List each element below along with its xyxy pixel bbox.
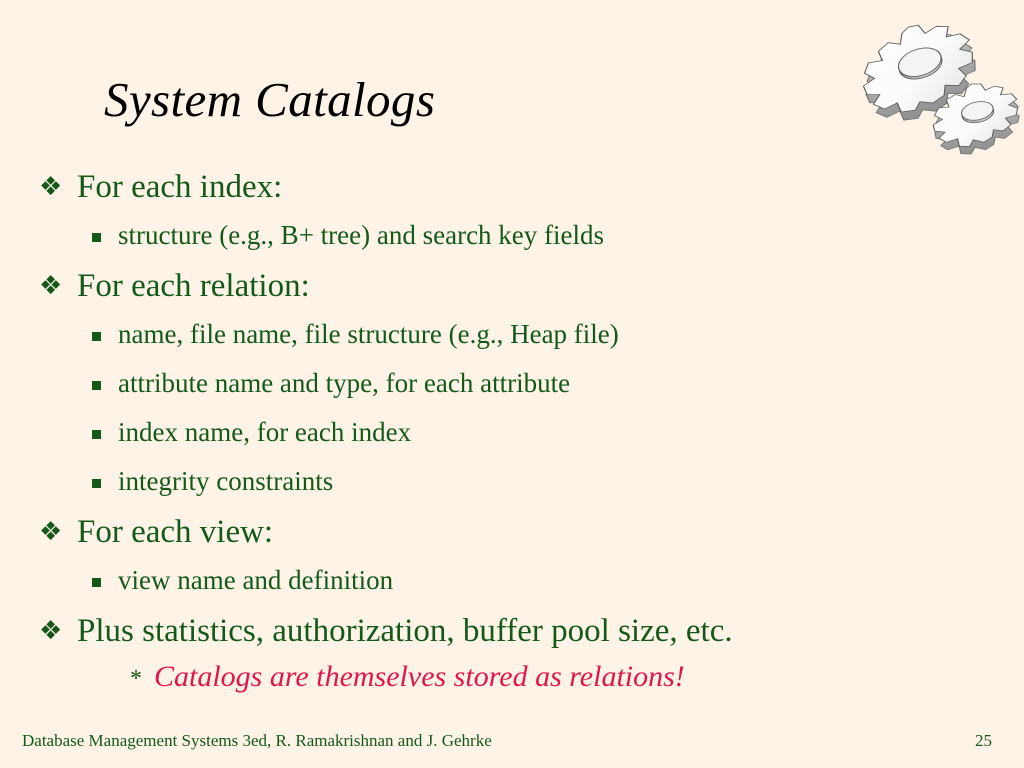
- highlight-note: * Catalogs are themselves stored as rela…: [0, 660, 1024, 704]
- bullet-text: For each view:: [77, 511, 273, 553]
- slide-canvas: System Catalogs: [0, 0, 1024, 768]
- bullet-text: For each relation:: [77, 265, 310, 307]
- square-bullet-icon: [92, 381, 101, 390]
- bullet-item-level1: ❖ For each view:: [0, 511, 1024, 561]
- square-bullet-icon: [92, 233, 101, 242]
- bullet-text: index name, for each index: [118, 413, 411, 451]
- diamond-bullet-icon: ❖: [39, 271, 65, 301]
- bullet-item-level2: structure (e.g., B+ tree) and search key…: [0, 216, 1024, 265]
- square-bullet-icon: [92, 332, 101, 341]
- bullet-item-level2: integrity constraints: [0, 462, 1024, 511]
- bullet-item-level2: index name, for each index: [0, 413, 1024, 462]
- bullet-list: ❖ For each index: structure (e.g., B+ tr…: [0, 166, 1024, 704]
- gears-icon: [845, 4, 1024, 156]
- bullet-item-level1: ❖ Plus statistics, authorization, buffer…: [0, 610, 1024, 660]
- bullet-item-level2: name, file name, file structure (e.g., H…: [0, 315, 1024, 364]
- bullet-text: view name and definition: [118, 561, 393, 599]
- square-bullet-icon: [92, 578, 101, 587]
- bullet-text: attribute name and type, for each attrib…: [118, 364, 570, 402]
- bullet-item-level1: ❖ For each relation:: [0, 265, 1024, 315]
- bullet-text: Plus statistics, authorization, buffer p…: [77, 610, 733, 652]
- bullet-text: integrity constraints: [118, 462, 333, 500]
- page-number: 25: [975, 730, 992, 752]
- asterisk-icon: *: [130, 664, 142, 694]
- bullet-text: For each index:: [77, 166, 282, 208]
- bullet-text: name, file name, file structure (e.g., H…: [118, 315, 619, 353]
- bullet-text: structure (e.g., B+ tree) and search key…: [118, 216, 604, 254]
- square-bullet-icon: [92, 430, 101, 439]
- footer-credit: Database Management Systems 3ed, R. Rama…: [22, 730, 492, 752]
- square-bullet-icon: [92, 479, 101, 488]
- diamond-bullet-icon: ❖: [39, 616, 65, 646]
- page-title: System Catalogs: [104, 72, 435, 128]
- diamond-bullet-icon: ❖: [39, 172, 65, 202]
- highlight-text: Catalogs are themselves stored as relati…: [154, 656, 685, 698]
- diamond-bullet-icon: ❖: [39, 517, 65, 547]
- bullet-item-level2: view name and definition: [0, 561, 1024, 610]
- bullet-item-level2: attribute name and type, for each attrib…: [0, 364, 1024, 413]
- bullet-item-level1: ❖ For each index:: [0, 166, 1024, 216]
